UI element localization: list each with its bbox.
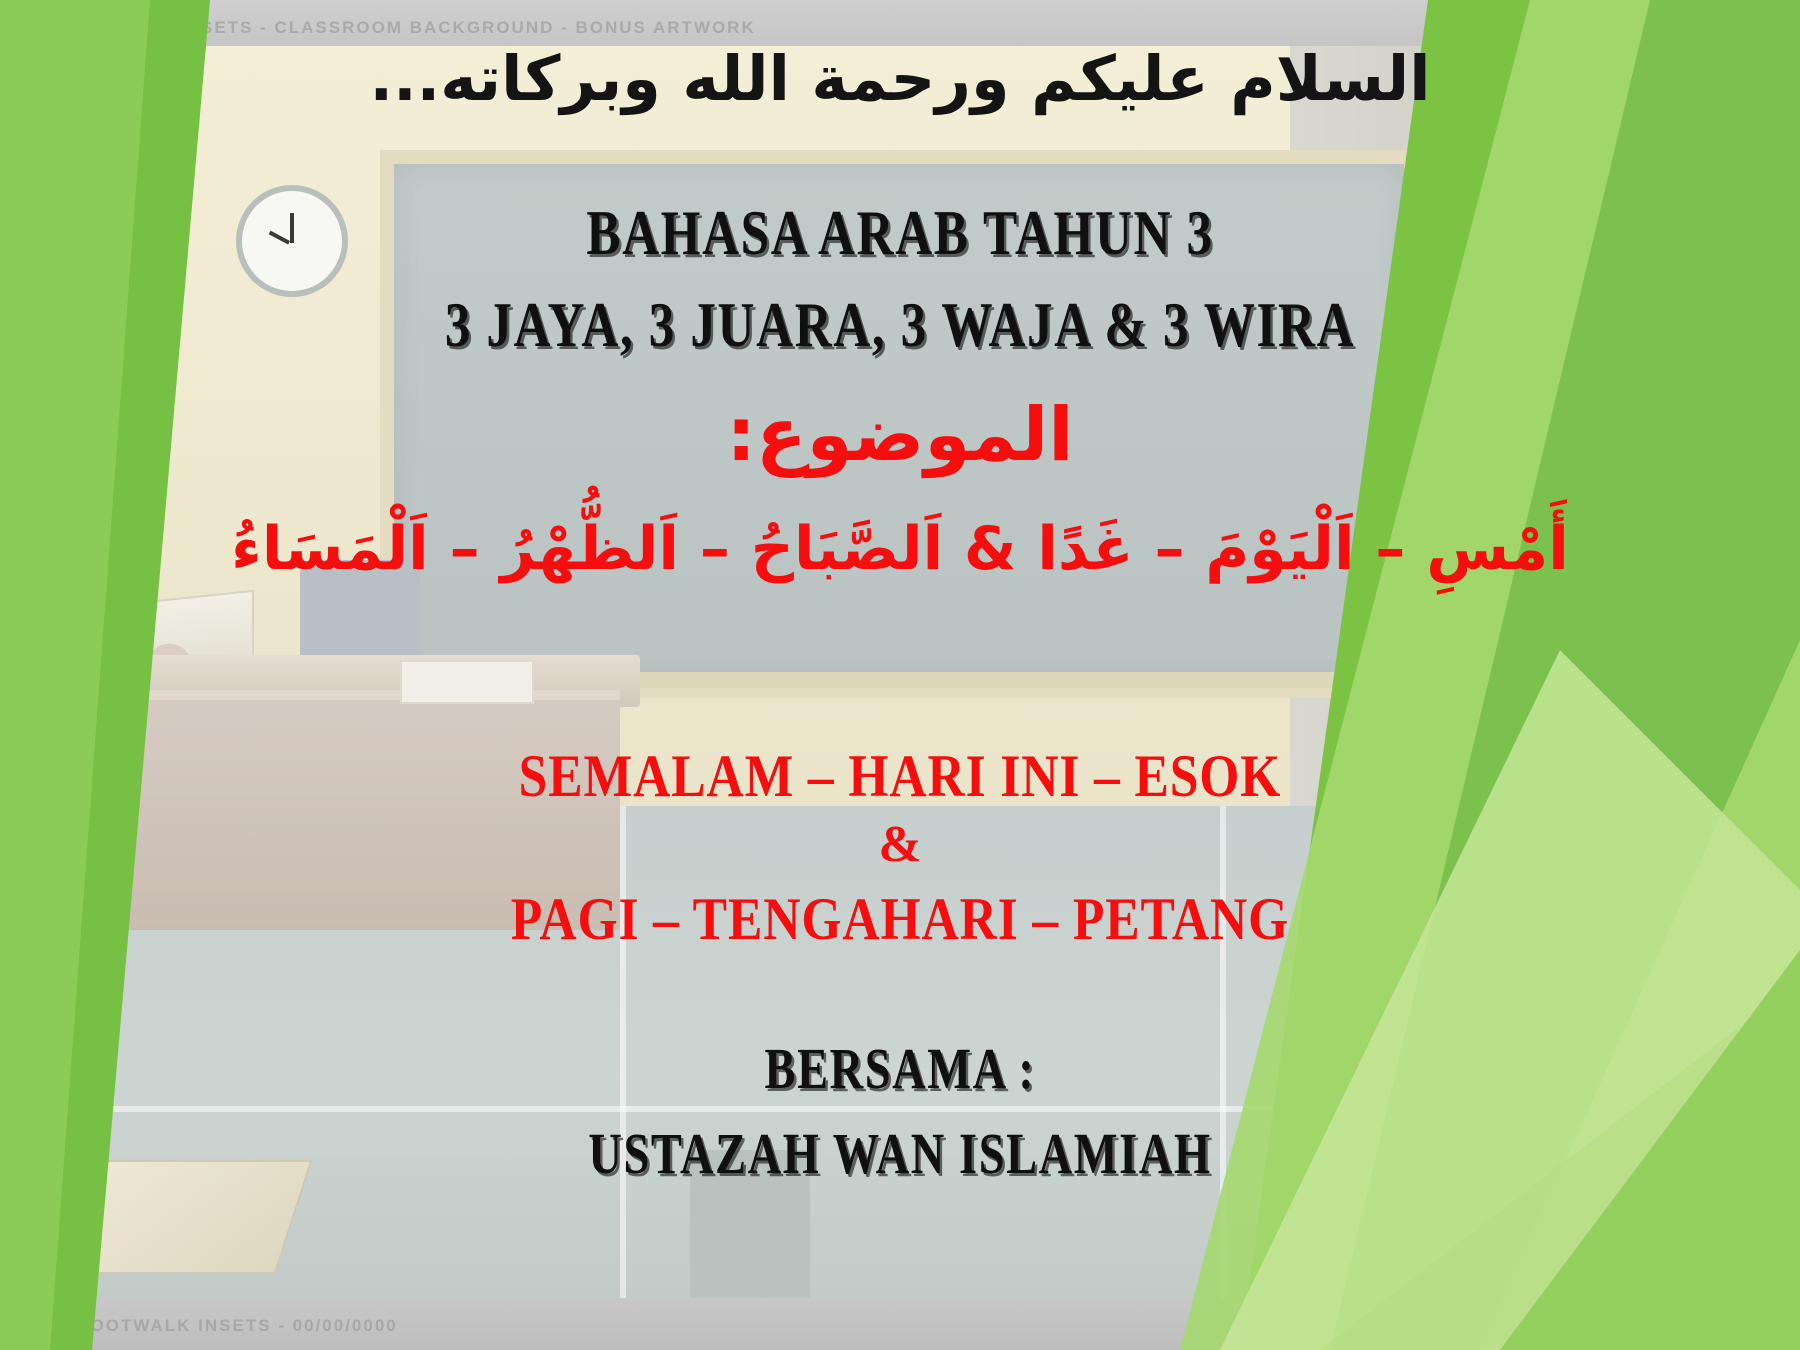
subject-title: BAHASA ARAB TAHUN 3 <box>180 196 1620 270</box>
bersama-label: BERSAMA : <box>180 1035 1620 1102</box>
class-list-title: 3 JAYA, 3 JUARA, 3 WAJA & 3 WIRA <box>180 288 1620 362</box>
slide-canvas: FOOTWALK INSETS - CLASSROOM BACKGROUND -… <box>0 0 1800 1350</box>
topic-label: الموضوع: <box>0 392 1800 478</box>
teacher-name: USTAZAH WAN ISLAMIAH <box>180 1120 1620 1187</box>
greeting-text: السلام عليكم ورحمة الله وبركاته... <box>0 42 1800 115</box>
vocabulary-malay-days: SEMALAM – HARI INI – ESOK <box>126 742 1674 811</box>
vocabulary-malay-times: PAGI – TENGAHARI – PETANG <box>126 885 1674 954</box>
ampersand-separator: & <box>0 815 1800 874</box>
vocabulary-arabic: أَمْسِ – اَلْيَوْمَ – غَدًا & اَلصَّبَاح… <box>0 512 1800 587</box>
slide-text-layer: السلام عليكم ورحمة الله وبركاته... BAHAS… <box>0 0 1800 1350</box>
